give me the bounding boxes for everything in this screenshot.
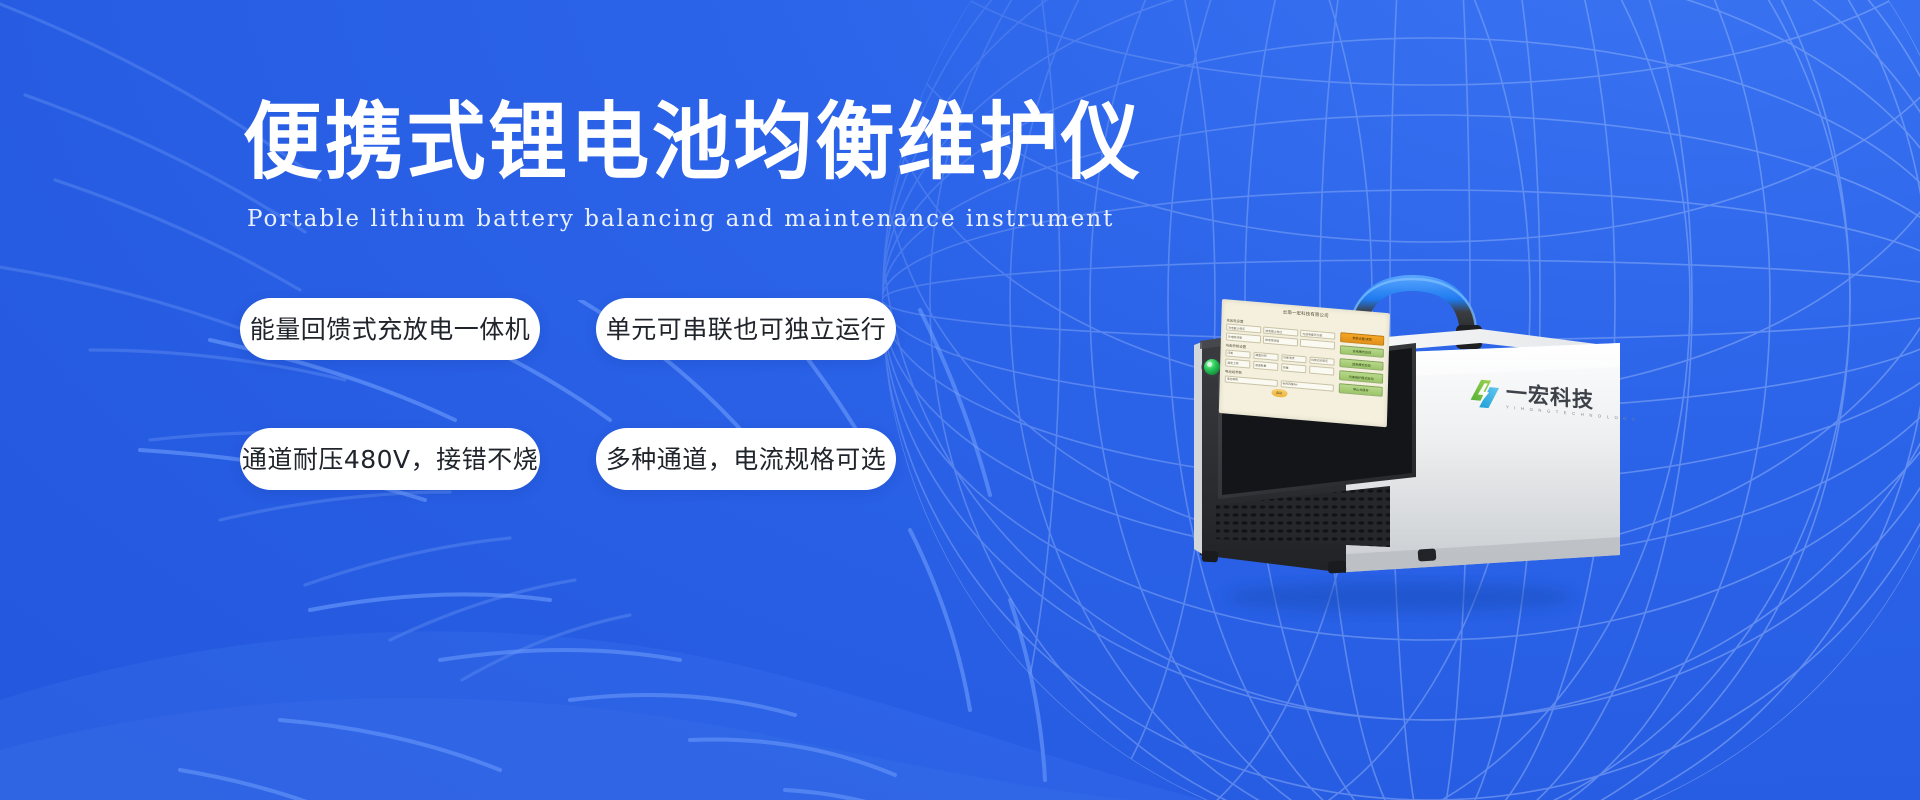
device-vector (1150, 255, 1620, 615)
screen-action-button[interactable]: 停止并保存 (1339, 383, 1383, 396)
feature-pill-list: 能量回馈式充放电一体机 单元可串联也可独立运行 通道耐压480V，接错不烧 多种… (240, 298, 900, 490)
screen-field[interactable]: 充电截止电压 (1226, 323, 1261, 333)
feature-pill-3[interactable]: 通道耐压480V，接错不烧 (240, 428, 540, 490)
page-subtitle: Portable lithium battery balancing and m… (247, 204, 1123, 234)
headline-block: 便携式锂电池均衡维护仪 Portable lithium battery bal… (243, 96, 1123, 234)
screen-field[interactable]: 充电限流值 (1226, 333, 1261, 343)
feature-pill-label: 单元可串联也可独立运行 (606, 317, 887, 342)
feature-pill-4[interactable]: 多种通道，电流规格可选 (596, 428, 896, 490)
feature-pill-label: 能量回馈式充放电一体机 (250, 317, 531, 342)
page-title: 便携式锂电池均衡维护仪 (243, 96, 1070, 188)
screen-field[interactable]: 均衡启动电压 (1309, 356, 1335, 366)
product-device-image: 云南一宏科技有限公司 充放电设置 充电截止电压 放电截止电压 充放电循环次数 充… (1150, 255, 1620, 615)
screen-start-button[interactable]: 启动 (1271, 388, 1287, 397)
screen-field[interactable]: 放电截止电压 (1263, 327, 1298, 337)
feature-pill-label: 多种通道，电流规格可选 (606, 447, 887, 472)
screen-form-area: 充放电设置 充电截止电压 放电截止电压 充放电循环次数 充电限流值 放电限流值 … (1224, 314, 1335, 401)
company-logo-icon (1468, 376, 1501, 412)
screen-field[interactable]: 静置时间 (1253, 352, 1279, 362)
screen-action-button[interactable]: 参数设置/读取 (1340, 332, 1384, 345)
device-screen[interactable]: 云南一宏科技有限公司 充放电设置 充电截止电压 放电截止电压 充放电循环次数 充… (1219, 299, 1390, 427)
wave-sweep-decoration (0, 550, 1250, 800)
screen-field[interactable]: 均衡电流 (1281, 354, 1307, 364)
feature-pill-1[interactable]: 能量回馈式充放电一体机 (240, 298, 540, 360)
screen-field[interactable] (1309, 366, 1335, 376)
screen-field[interactable]: 放电限流值 (1263, 336, 1298, 346)
screen-field[interactable]: 通道数量 (1253, 361, 1279, 371)
promo-banner: 便携式锂电池均衡维护仪 Portable lithium battery bal… (0, 0, 1920, 800)
screen-action-button[interactable]: 充电模式启动 (1340, 345, 1384, 358)
screen-field[interactable] (1300, 339, 1335, 349)
screen-field[interactable]: 压差 (1225, 349, 1251, 359)
feature-pill-2[interactable]: 单元可串联也可独立运行 (596, 298, 896, 360)
screen-action-button[interactable]: 放电模式启动 (1339, 358, 1383, 371)
screen-field[interactable]: 容量 (1281, 363, 1307, 373)
screen-action-buttons: 参数设置/读取 充电模式启动 放电模式启动 均衡维护模式启动 停止并保存 (1338, 324, 1384, 406)
screen-action-button[interactable]: 均衡维护模式启动 (1339, 370, 1383, 383)
screen-field[interactable]: 充放电循环次数 (1300, 330, 1335, 340)
screen-field[interactable]: 温度上限 (1225, 359, 1251, 369)
feature-pill-label: 通道耐压480V，接错不烧 (242, 447, 538, 472)
